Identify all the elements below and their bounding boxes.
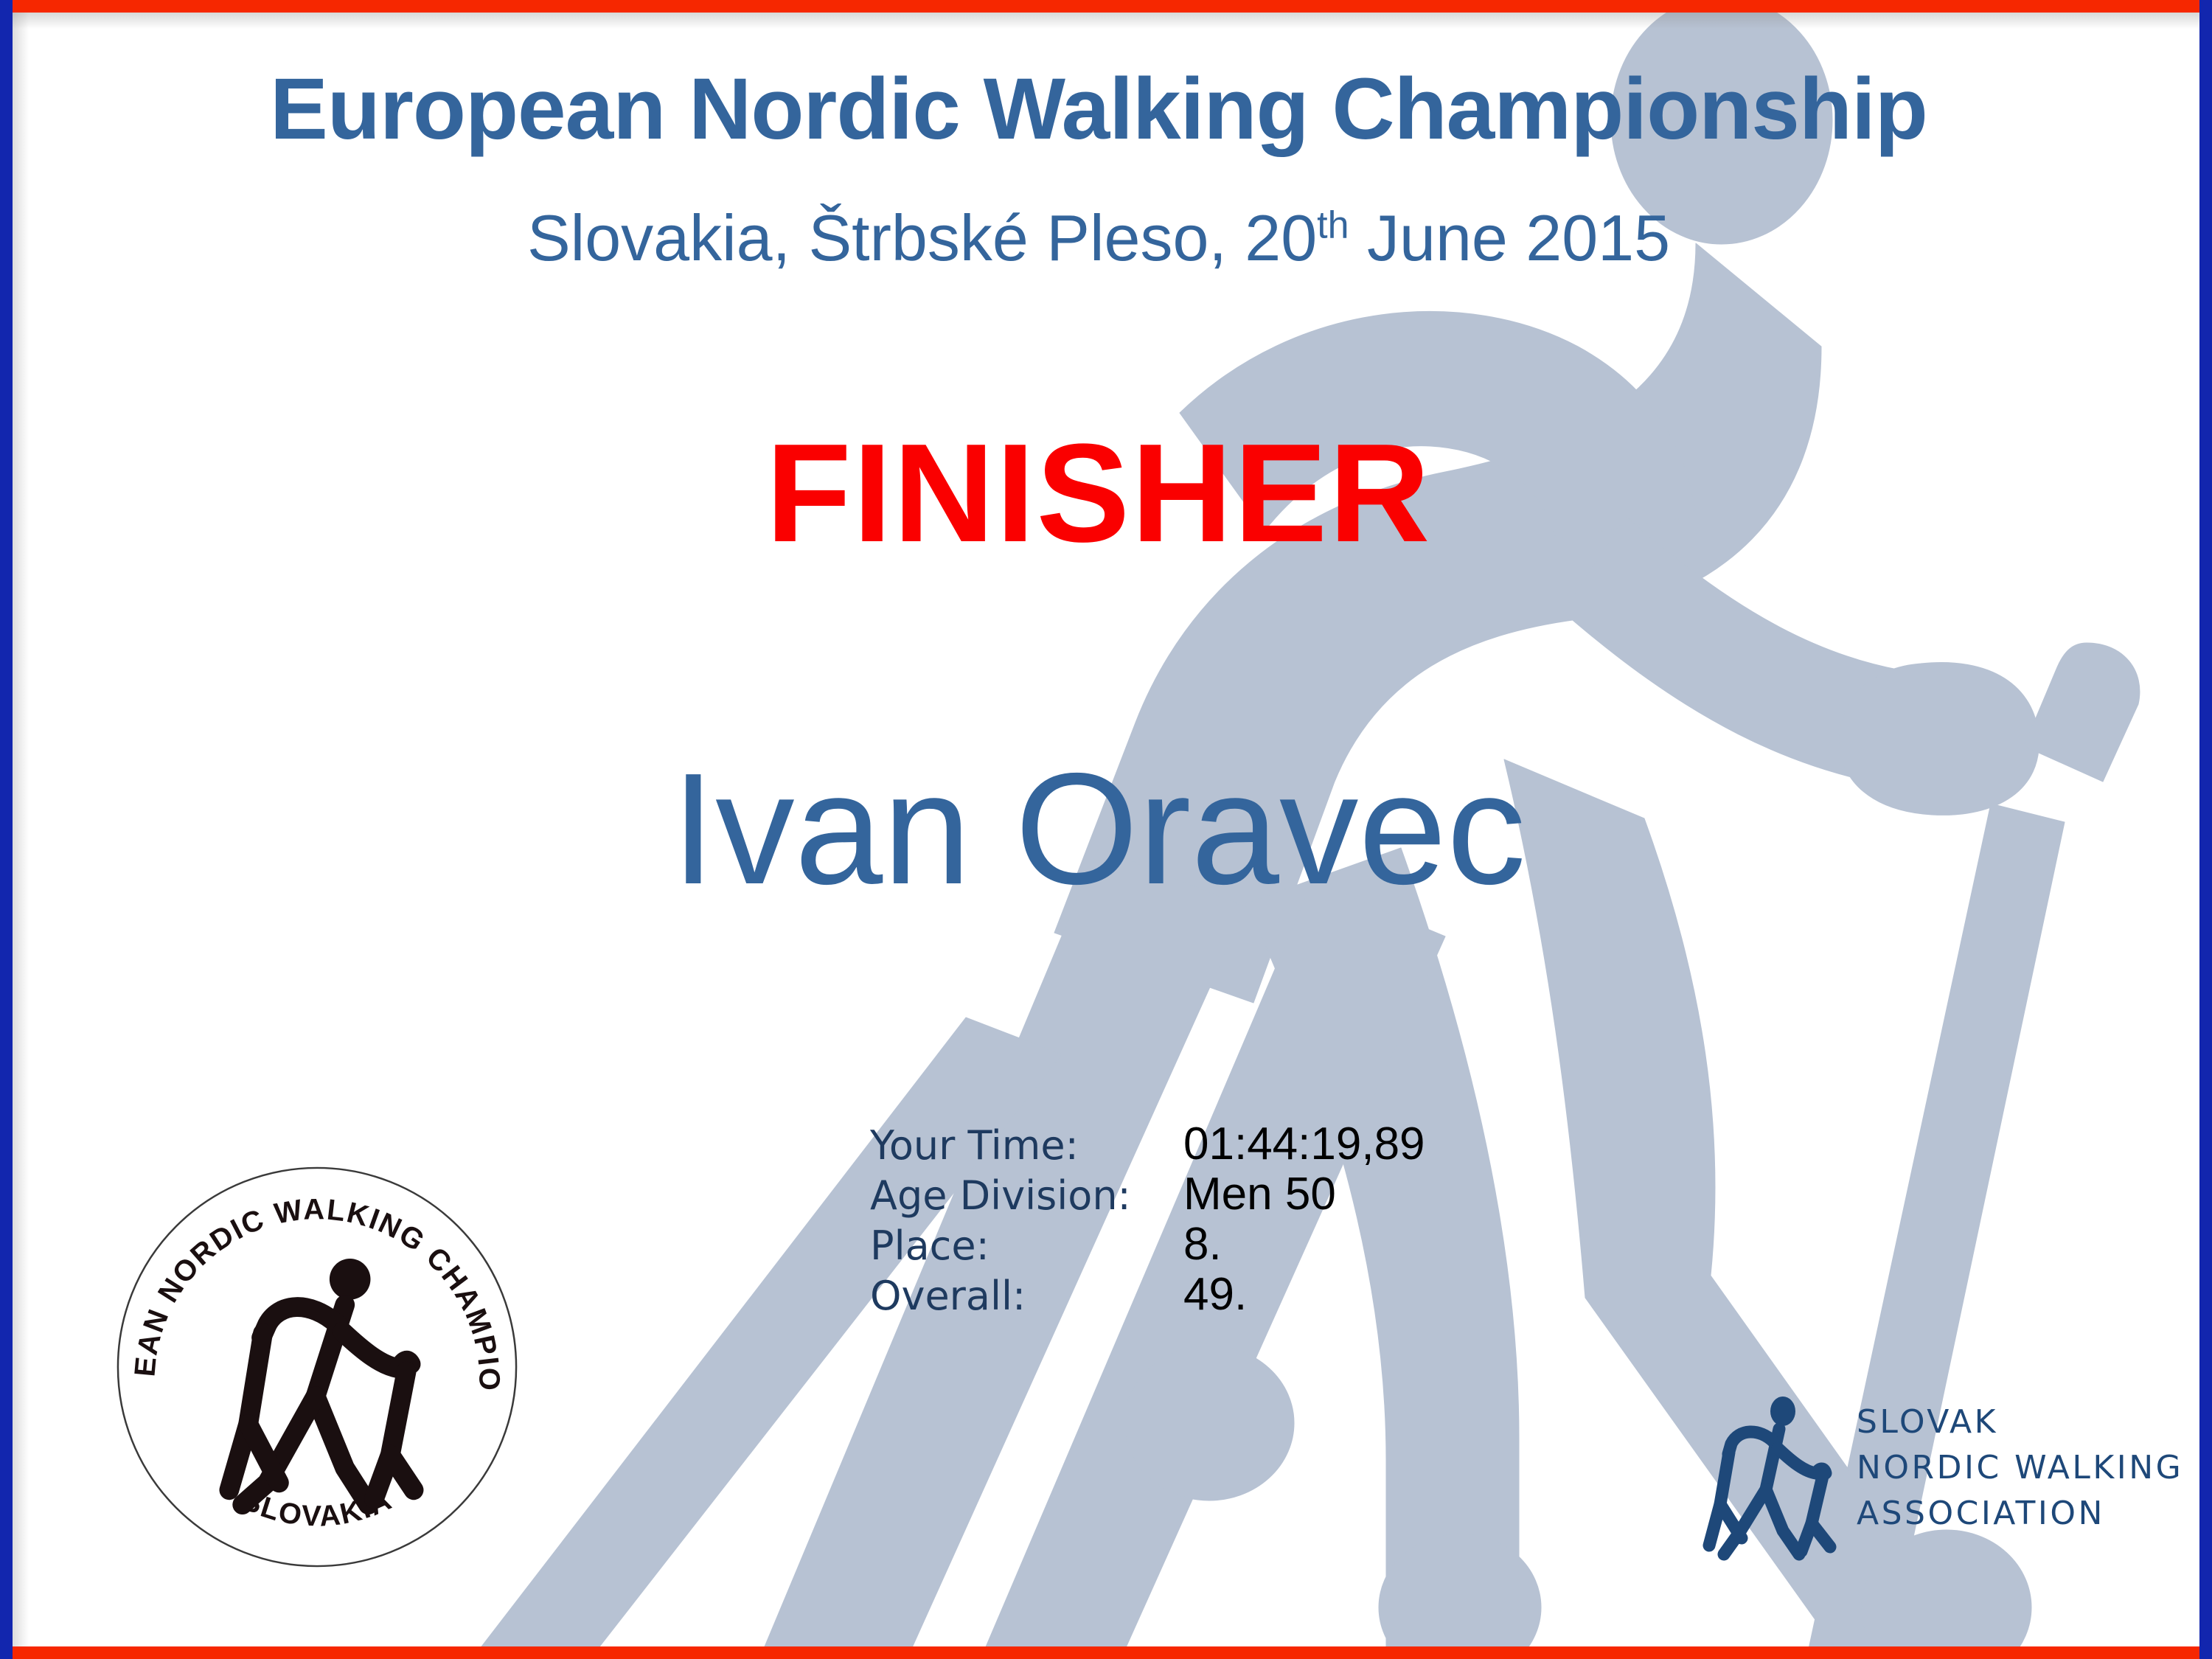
table-row: Age Division: Men 50 [870,1168,1425,1218]
border-left [0,0,13,1659]
assoc-line-2: NORDIC WALKING [1857,1445,2183,1491]
championship-logo: EUROPEAN NORDIC WALKING CHAMPIONSHIP SLO… [112,1162,522,1572]
table-row: Place: 8. [870,1218,1425,1268]
event-subtitle: Slovakia, Štrbské Pleso, 20th June 2015 [0,201,2197,276]
table-row: Your Time: 01:44:19,89 [870,1118,1425,1168]
place-value: 8. [1183,1218,1222,1270]
place-label: Place: [870,1222,1183,1269]
event-date-suffix: June 2015 [1349,201,1671,274]
watermark-pole-left [472,1018,1062,1659]
table-row: Overall: 49. [870,1268,1425,1318]
assoc-line-3: ASSOCIATION [1857,1491,2183,1537]
inner-shadow-top [13,13,2199,29]
age-division-value: Men 50 [1183,1168,1336,1220]
association-logo: SLOVAK NORDIC WALKING ASSOCIATION [1696,1386,2153,1571]
border-bottom [0,1646,2212,1659]
border-right [2199,0,2212,1659]
results-table: Your Time: 01:44:19,89 Age Division: Men… [870,1118,1425,1318]
border-top [0,0,2212,13]
event-location-date-prefix: Slovakia, Štrbské Pleso, 20 [527,201,1317,274]
date-ordinal-suffix: th [1317,204,1349,247]
page-title: European Nordic Walking Championship [0,59,2197,159]
certificate-canvas: European Nordic Walking Championship Slo… [0,0,2212,1659]
age-division-label: Age Division: [870,1172,1183,1219]
status-badge: FINISHER [0,413,2197,574]
association-name: SLOVAK NORDIC WALKING ASSOCIATION [1857,1399,2183,1537]
your-time-label: Your Time: [870,1122,1183,1169]
overall-label: Overall: [870,1273,1183,1319]
athlete-name: Ivan Oravec [0,737,2197,920]
watermark-knee [1124,1346,1294,1500]
your-time-value: 01:44:19,89 [1183,1118,1425,1170]
assoc-line-1: SLOVAK [1857,1399,2183,1445]
nordic-walker-icon [1696,1386,1843,1571]
overall-value: 49. [1183,1268,1247,1321]
watermark-foot-2 [1379,1534,1541,1659]
